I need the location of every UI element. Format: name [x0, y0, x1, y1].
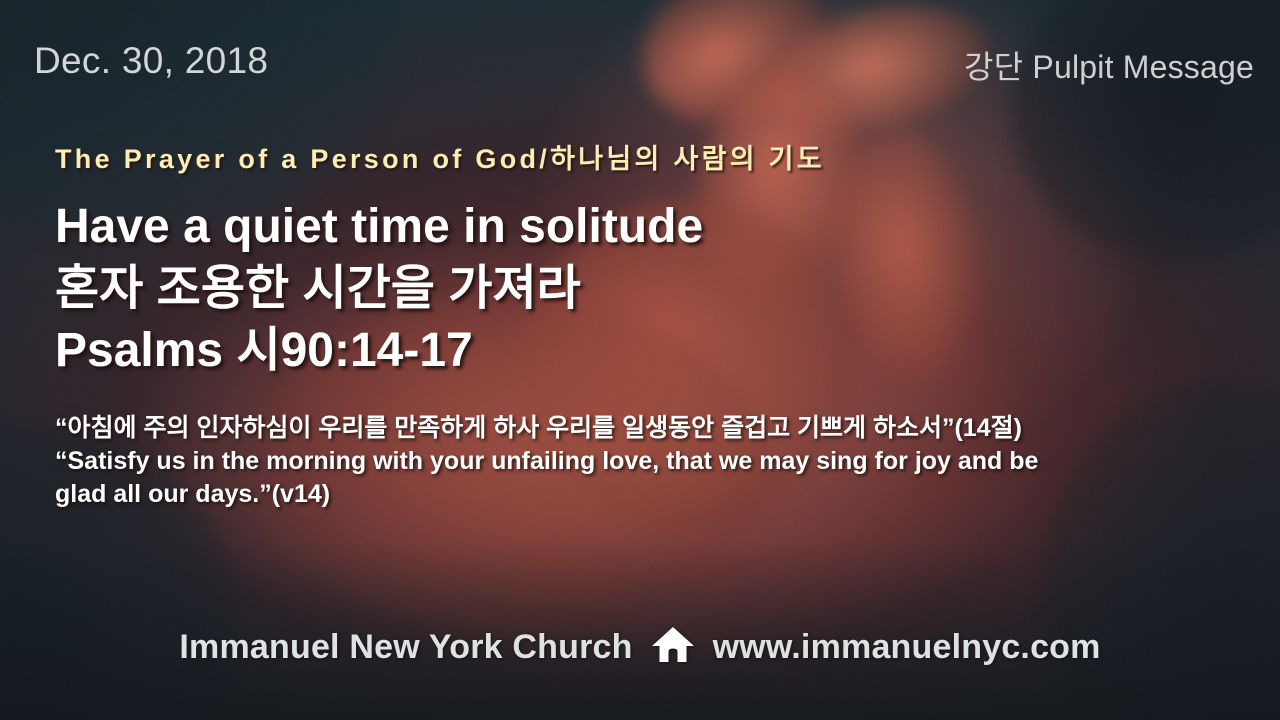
home-icon: [651, 625, 695, 670]
scripture-english-line-2: glad all our days.”(v14): [55, 478, 1235, 511]
church-name: Immanuel New York Church: [179, 628, 632, 667]
slide-footer: Immanuel New York Church www.immanuelnyc…: [0, 625, 1280, 670]
scripture-english-line-1: “Satisfy us in the morning with your unf…: [55, 445, 1235, 478]
sermon-title-line-korean: 혼자 조용한 시간을 가져라: [55, 258, 703, 320]
sermon-slide: Dec. 30, 2018 강단 Pulpit Message The Pray…: [0, 0, 1280, 720]
slide-content: Dec. 30, 2018 강단 Pulpit Message The Pray…: [0, 0, 1280, 720]
sermon-title-line-english: Have a quiet time in solitude: [55, 196, 703, 258]
sermon-series-title: The Prayer of a Person of God/하나님의 사람의 기…: [55, 137, 825, 176]
message-category: 강단 Pulpit Message: [964, 42, 1254, 88]
church-website: www.immanuelnyc.com: [713, 628, 1101, 667]
sermon-scripture-reference: Psalms 시90:14-17: [55, 320, 703, 382]
scripture-block: “아침에 주의 인자하심이 우리를 만족하게 하사 우리를 일생동안 즐겁고 기…: [55, 412, 1235, 511]
sermon-date: Dec. 30, 2018: [34, 40, 268, 82]
sermon-title-block: Have a quiet time in solitude 혼자 조용한 시간을…: [55, 196, 703, 382]
scripture-korean: “아침에 주의 인자하심이 우리를 만족하게 하사 우리를 일생동안 즐겁고 기…: [55, 412, 1235, 445]
